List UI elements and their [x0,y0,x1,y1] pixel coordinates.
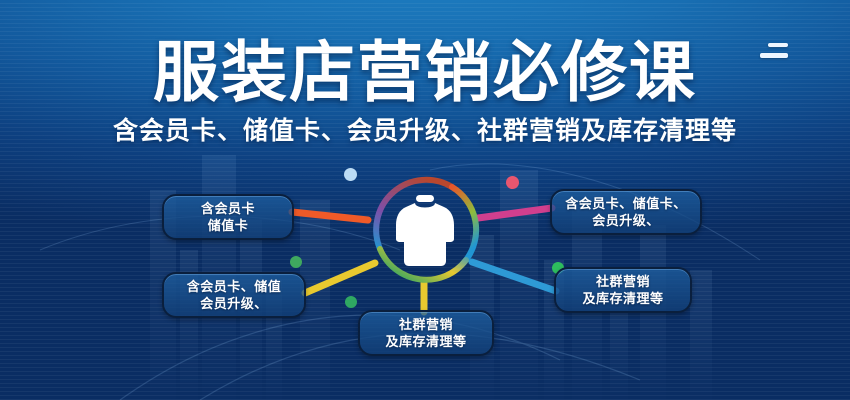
connector-orange [292,212,368,220]
feature-box-4[interactable]: 含会员卡、储值卡、 会员升级、 [550,189,702,235]
shirt-icon [395,195,455,267]
connector-magenta [478,208,552,218]
feature-box-5[interactable]: 社群营销 及库存清理等 [554,267,692,313]
feature-box-5-line1: 社群营销 [596,273,650,290]
feature-diagram: 含会员卡 储值卡 含会员卡、储值 会员升级、 社群营销 及库存清理等 含会员卡、… [0,150,850,400]
feature-box-1[interactable]: 含会员卡 储值卡 [162,194,294,240]
dot-green-left-icon [290,256,302,268]
connector-yellow [305,263,375,293]
dot-green-mid-icon [345,296,357,308]
dot-pink-icon [506,176,519,189]
feature-box-3[interactable]: 社群营销 及库存清理等 [358,310,494,356]
feature-box-2-line2: 会员升级、 [200,295,268,312]
page-subtitle: 含会员卡、储值卡、会员升级、社群营销及库存清理等 [0,116,850,146]
feature-box-3-line1: 社群营销 [399,316,453,333]
feature-box-1-line1: 含会员卡 [201,200,255,217]
connector-blue [472,262,556,291]
feature-box-2-line1: 含会员卡、储值 [187,278,282,295]
dot-lightblue-icon [344,168,357,181]
tick-mark-lower-icon [760,53,788,58]
page-title: 服装店营销必修课 [0,36,850,108]
tick-mark-upper-icon [768,43,788,47]
feature-box-1-line2: 储值卡 [208,217,249,234]
feature-box-3-line2: 及库存清理等 [385,333,466,350]
promo-banner: 服装店营销必修课 含会员卡、储值卡、会员升级、社群营销及库存清理等 [0,0,850,400]
feature-box-4-line1: 含会员卡、储值卡、 [565,195,687,212]
feature-box-2[interactable]: 含会员卡、储值 会员升级、 [162,272,306,318]
feature-box-5-line2: 及库存清理等 [582,290,663,307]
feature-box-4-line2: 会员升级、 [592,212,660,229]
